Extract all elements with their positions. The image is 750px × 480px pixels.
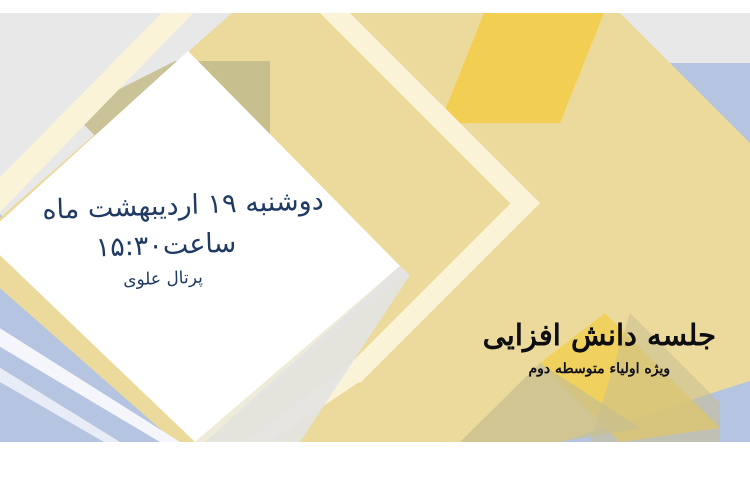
geometric-background-graphic [0, 13, 750, 442]
poster-canvas: دوشنبه ۱۹ اردیبهشت ماه ساعت۱۵:۳۰ پرتال ع… [0, 0, 750, 480]
poster-artwork [0, 13, 750, 442]
